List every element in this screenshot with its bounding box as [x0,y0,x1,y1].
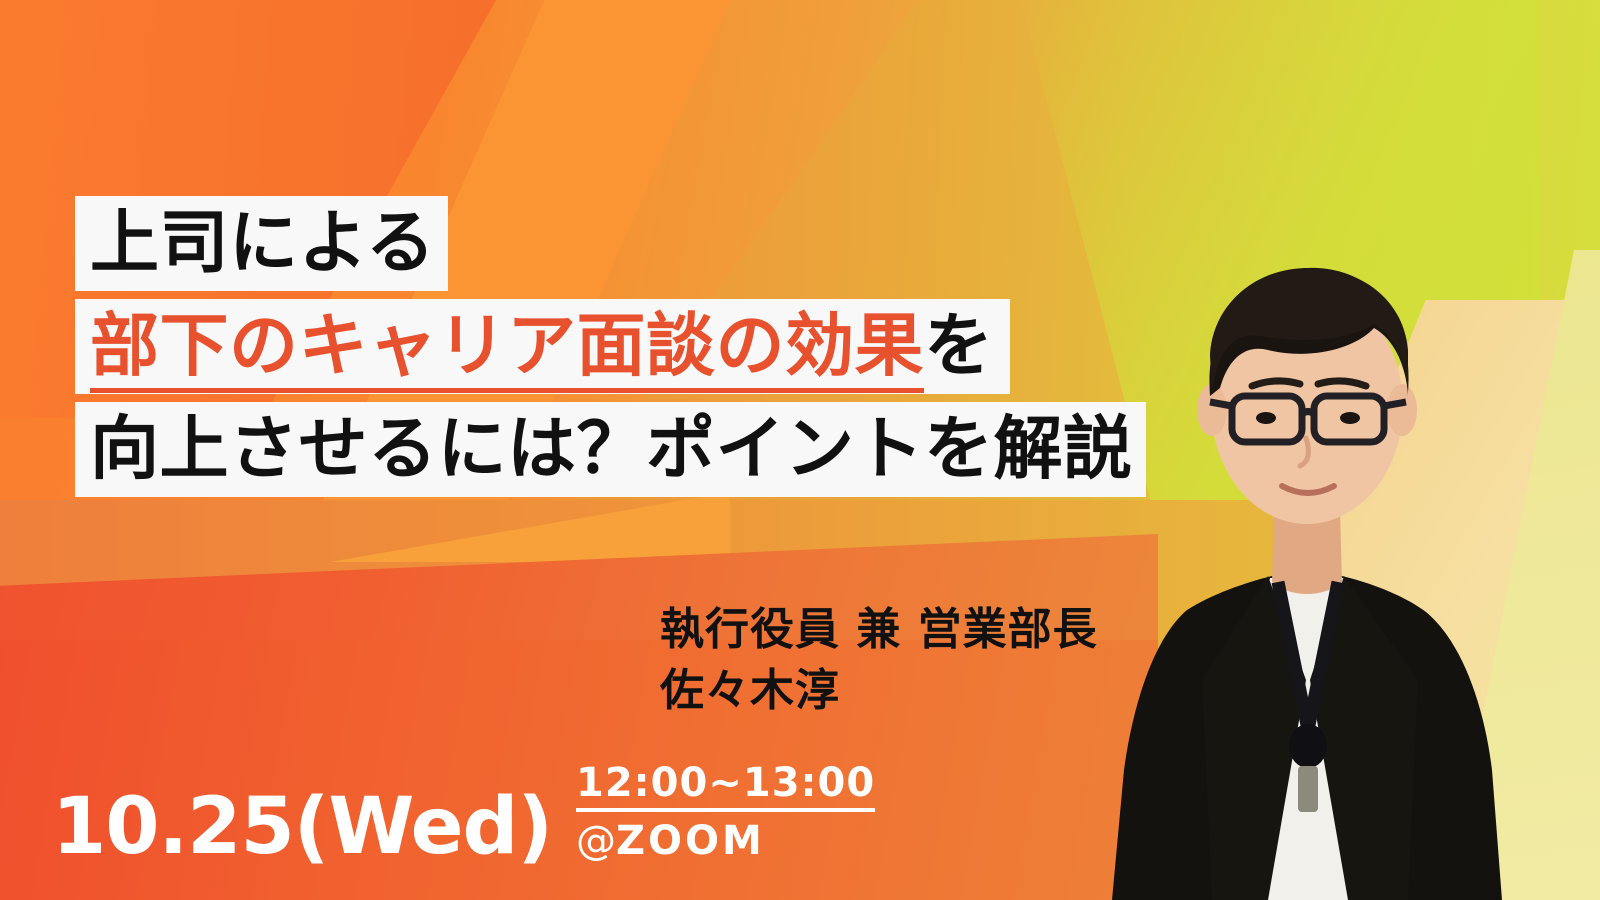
speaker-portrait [1092,210,1522,900]
at-symbol-icon: @ [576,818,616,864]
eye-right [1340,412,1360,424]
event-time: 12:00~13:00 [576,762,875,812]
title-highlight: 部下のキャリア面談の効果 [90,306,924,393]
event-platform: @ZOOM [576,820,875,862]
speaker-info: 執行役員 兼 営業部長 佐々木淳 [660,600,1098,721]
eye-left [1256,412,1276,424]
title-line-3: 向上させるには？ポイントを解説 [75,402,1146,497]
title-line-2: 部下のキャリア面談の効果を [75,299,1010,394]
event-datetime: 10.25(Wed) 12:00~13:00 @ZOOM [52,762,875,866]
title-line-2-suffix: を [924,306,994,386]
lanyard-badge-reel [1289,724,1327,768]
lanyard-badge [1298,766,1318,812]
event-date: 10.25(Wed) [52,788,552,866]
event-platform-name: ZOOM [616,818,765,864]
title-line-1: 上司による [75,196,448,291]
event-time-block: 12:00~13:00 @ZOOM [576,762,875,866]
speaker-role: 執行役員 兼 営業部長 [660,600,1098,661]
webinar-banner: 上司による 部下のキャリア面談の効果を 向上させるには？ポイントを解説 執行役員… [0,0,1600,900]
title-block: 上司による 部下のキャリア面談の効果を 向上させるには？ポイントを解説 [75,196,1146,497]
speaker-name: 佐々木淳 [660,661,1098,722]
ear-right [1387,384,1417,436]
